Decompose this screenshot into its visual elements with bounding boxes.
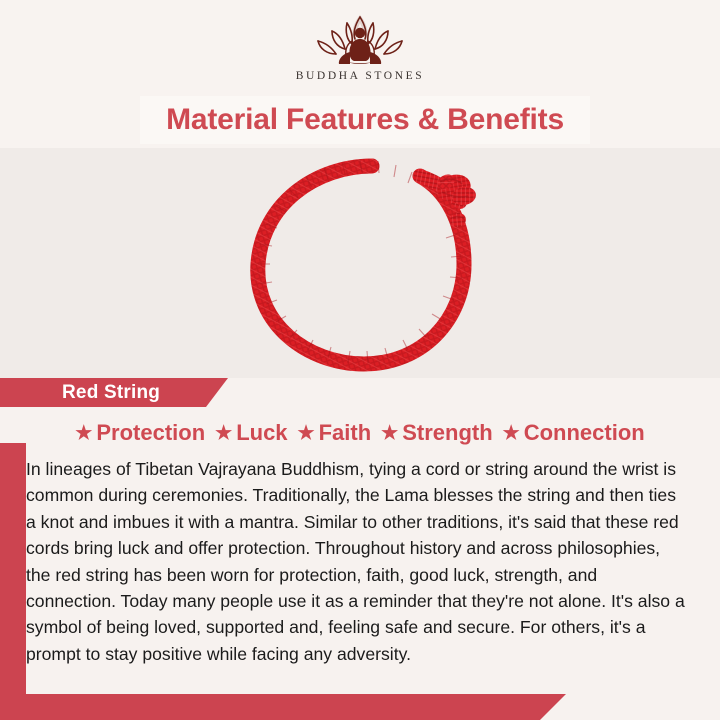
frame-bar-bottom xyxy=(0,694,566,720)
title-plate: Material Features & Benefits xyxy=(140,96,590,144)
lotus-meditation-icon xyxy=(306,12,414,68)
infographic-page: BUDDHA STONES Material Features & Benefi… xyxy=(0,0,720,720)
brand-name: BUDDHA STONES xyxy=(296,70,424,82)
star-icon: ★ xyxy=(215,422,232,445)
section-band: Red String xyxy=(0,378,228,407)
benefit-item-protection: ★ Protection xyxy=(75,420,205,446)
red-braided-cord-bracelet-image xyxy=(232,152,494,374)
benefit-label: Connection xyxy=(524,420,645,446)
benefit-label: Luck xyxy=(236,420,287,446)
benefit-item-strength: ★ Strength xyxy=(381,420,493,446)
product-image-area xyxy=(0,148,720,378)
benefit-item-faith: ★ Faith xyxy=(298,420,372,446)
frame-bar-body-left xyxy=(0,443,26,698)
benefit-item-connection: ★ Connection xyxy=(503,420,645,446)
benefit-label: Strength xyxy=(402,420,492,446)
star-icon: ★ xyxy=(298,422,315,445)
star-icon: ★ xyxy=(75,422,92,445)
benefit-item-luck: ★ Luck xyxy=(215,420,287,446)
benefit-label: Protection xyxy=(96,420,205,446)
header: BUDDHA STONES Material Features & Benefi… xyxy=(0,0,720,148)
page-title: Material Features & Benefits xyxy=(166,103,564,137)
benefit-label: Faith xyxy=(319,420,372,446)
brand-lockup: BUDDHA STONES xyxy=(0,12,720,82)
star-icon: ★ xyxy=(503,422,520,445)
description-text: In lineages of Tibetan Vajrayana Buddhis… xyxy=(26,456,702,667)
star-icon: ★ xyxy=(381,422,398,445)
benefits-row: ★ Protection ★ Luck ★ Faith ★ Strength ★… xyxy=(0,412,720,454)
section-band-label: Red String xyxy=(0,382,160,404)
